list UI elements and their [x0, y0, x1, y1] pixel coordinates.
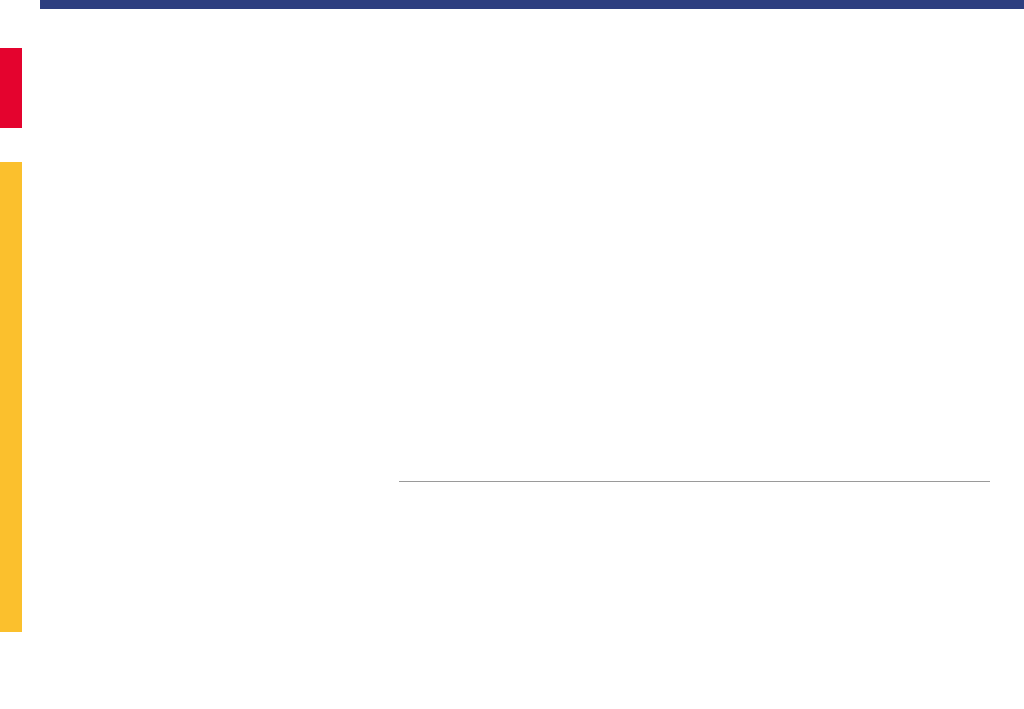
infographic-page — [0, 0, 1024, 709]
bar-chart — [399, 278, 999, 598]
chart-category-list — [399, 488, 990, 593]
index-panel — [57, 210, 369, 240]
left-accent-yellow — [0, 162, 22, 632]
top-accent-bar — [40, 0, 1024, 9]
chart-axis-line — [399, 481, 990, 482]
chart-plot-area — [399, 278, 990, 481]
left-accent-red — [0, 48, 22, 128]
